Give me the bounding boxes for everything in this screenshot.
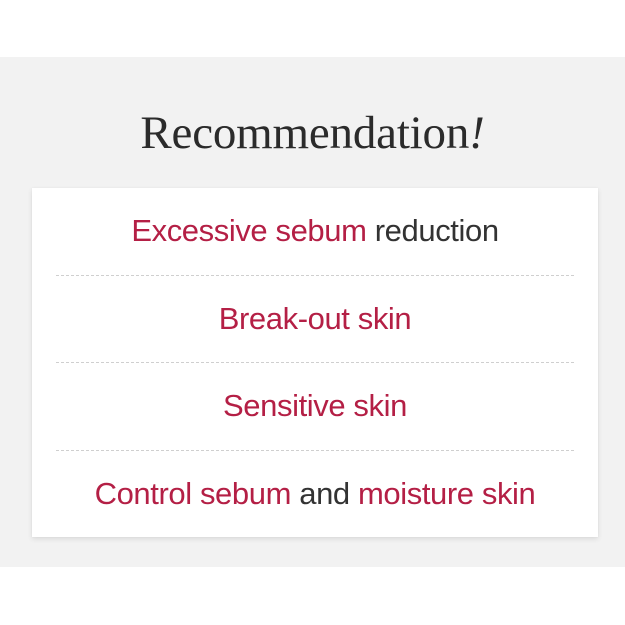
text-segment-accent: Control sebum [95, 476, 291, 511]
text-segment-accent: Excessive sebum [131, 213, 366, 248]
page-title: Recommendation! [0, 104, 625, 162]
text-segment-accent: Break-out skin [219, 301, 412, 336]
recommendation-text: Excessive sebum reduction [131, 212, 498, 250]
page-title-exclamation: ! [469, 107, 484, 159]
text-segment-accent: Sensitive skin [223, 388, 407, 423]
recommendation-panel: Recommendation! Excessive sebum reductio… [0, 0, 625, 625]
recommendation-row-break-out-skin[interactable]: Break-out skin [56, 276, 574, 363]
text-segment-neutral: and [291, 476, 358, 511]
recommendation-row-control-sebum-moisture-skin[interactable]: Control sebum and moisture skin [56, 451, 574, 538]
recommendation-text: Break-out skin [219, 300, 412, 338]
text-segment-neutral: reduction [367, 213, 499, 248]
recommendation-row-sensitive-skin[interactable]: Sensitive skin [56, 363, 574, 450]
page-title-text: Recommendation [140, 107, 469, 159]
recommendation-text: Sensitive skin [223, 387, 407, 425]
text-segment-accent: moisture skin [358, 476, 535, 511]
recommendation-row-excessive-sebum-reduction[interactable]: Excessive sebum reduction [56, 188, 574, 275]
recommendation-text: Control sebum and moisture skin [95, 475, 536, 513]
recommendation-card: Excessive sebum reductionBreak-out skinS… [32, 188, 598, 537]
